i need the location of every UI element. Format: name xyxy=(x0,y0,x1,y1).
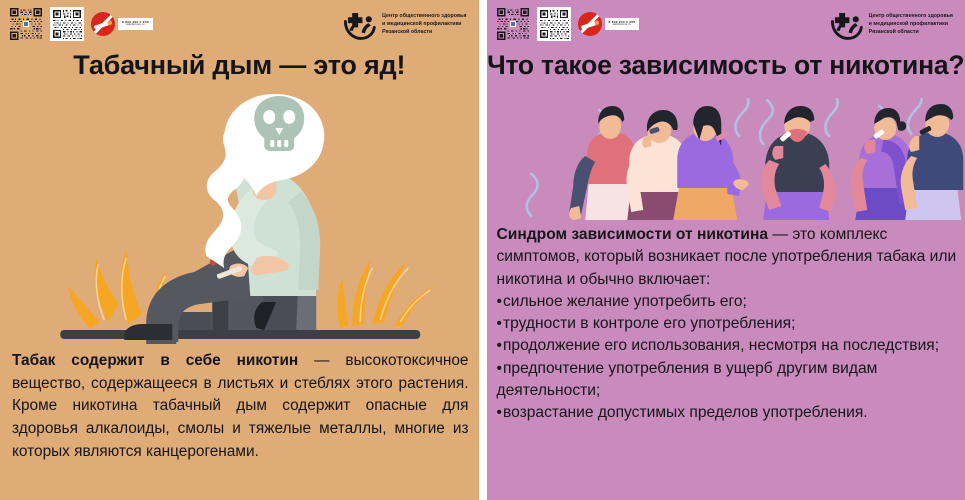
poster-tobacco-smoke-is-poison: 8 800 200 0 200 takzdorovo.ru xyxy=(0,0,479,500)
poster-header-left: 8 800 200 0 200 takzdorovo.ru xyxy=(0,0,479,48)
poster-board: 8 800 200 0 200 takzdorovo.ru xyxy=(0,0,965,500)
header-badges-left: 8 800 200 0 200 takzdorovo.ru xyxy=(0,7,153,41)
organization-block-right: Центр общественного здоровья и медицинск… xyxy=(829,7,965,41)
organization-name-left: Центр общественного здоровья и медицинск… xyxy=(382,12,466,36)
no-smoking-icon xyxy=(578,12,602,36)
body-lead-right: Синдром зависимости от никотина xyxy=(497,226,769,243)
header-badges-right: 8 800 200 0 200 takzdorovo.ru xyxy=(487,7,640,41)
poster-what-is-nicotine-addiction: 8 800 200 0 200 takzdorovo.ru xyxy=(487,0,965,500)
qr-code-vk[interactable] xyxy=(9,7,43,41)
body-text-left: Табак содержит в себе никотин — высокото… xyxy=(12,350,469,463)
list-item: сильное желание употребить его; xyxy=(497,291,958,313)
health-center-logo-icon xyxy=(342,7,376,41)
list-item: продолжение его использования, несмотря … xyxy=(497,335,958,357)
qr-code-site[interactable] xyxy=(537,7,571,41)
no-smoking-badge[interactable]: 8 800 200 0 200 takzdorovo.ru xyxy=(91,12,153,36)
body-text-right: Синдром зависимости от никотина — это ко… xyxy=(497,224,958,425)
list-item: возрастание допустимых пределов употребл… xyxy=(497,402,958,424)
poster-header-right: 8 800 200 0 200 takzdorovo.ru xyxy=(487,0,965,48)
organization-block-left: Центр общественного здоровья и медицинск… xyxy=(342,7,478,41)
body-lead-left: Табак содержит в себе никотин xyxy=(12,352,298,369)
group-of-vaping-people-illustration xyxy=(487,98,965,220)
no-smoking-badge[interactable]: 8 800 200 0 200 takzdorovo.ru xyxy=(578,12,640,36)
no-smoking-icon xyxy=(91,12,115,36)
page-title-right: Что такое зависимость от никотина? xyxy=(487,50,965,81)
organization-name-right: Центр общественного здоровья и медицинск… xyxy=(869,12,953,36)
symptom-list: сильное желание употребить его; трудност… xyxy=(497,291,958,425)
list-item: предпочтение употребления в ущерб другим… xyxy=(497,358,958,403)
health-center-logo-icon xyxy=(829,7,863,41)
helpline-label: 8 800 200 0 200 takzdorovo.ru xyxy=(605,18,640,31)
qr-code-site[interactable] xyxy=(50,7,84,41)
list-item: трудности в контроле его употребления; xyxy=(497,313,958,335)
body-paragraph-right: Синдром зависимости от никотина — это ко… xyxy=(497,224,958,291)
smoking-man-skull-smoke-illustration xyxy=(0,92,479,345)
qr-code-vk[interactable] xyxy=(496,7,530,41)
page-title-left: Табачный дым — это яд! xyxy=(0,50,479,81)
helpline-label: 8 800 200 0 200 takzdorovo.ru xyxy=(118,18,153,31)
